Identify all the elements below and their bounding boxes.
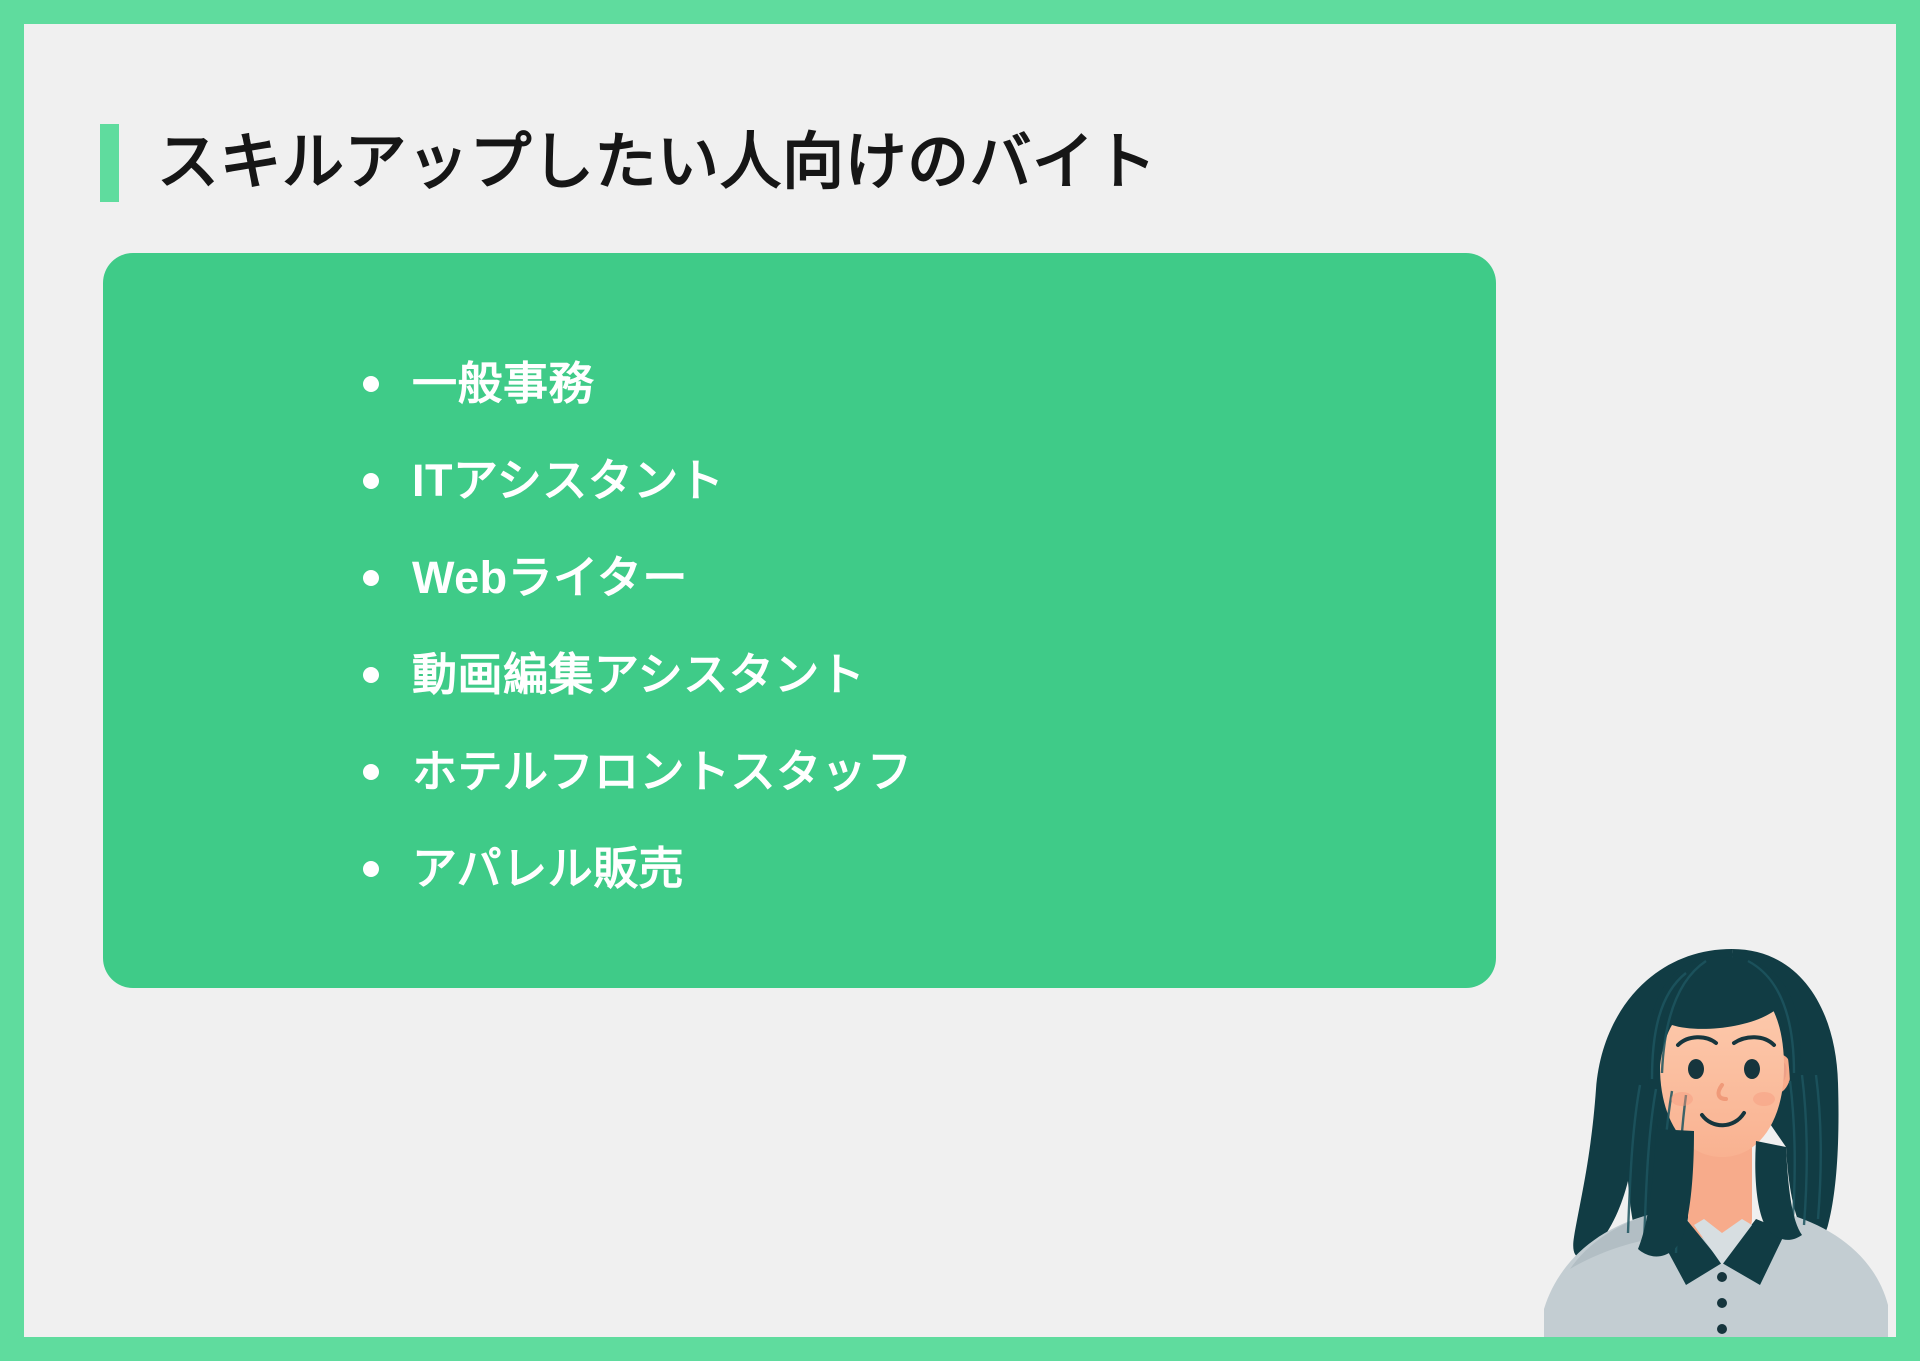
hair-strands (1628, 961, 1821, 1253)
page-header: スキルアップしたい人向けのバイト (100, 90, 1157, 235)
shirt-button (1717, 1324, 1727, 1334)
shirt-body (1544, 1213, 1888, 1337)
list-item: 一般事務 (363, 335, 913, 432)
frame-border-bottom (0, 1337, 1920, 1361)
job-list-card: 一般事務 ITアシスタント Webライター 動画編集アシスタント ホテルフロント… (103, 253, 1496, 988)
eye-left (1688, 1059, 1704, 1079)
frame-border-top (0, 0, 1920, 24)
list-item-label: アパレル販売 (412, 844, 684, 894)
hair-fringe (1648, 957, 1801, 1129)
list-item: ホテルフロントスタッフ (363, 723, 913, 820)
list-item-label: Webライター (412, 553, 688, 603)
woman-portrait-illustration (1536, 933, 1896, 1337)
list-item-label: ITアシスタント (412, 456, 724, 506)
list-item-label: 一般事務 (412, 359, 594, 409)
eyebrow-left (1678, 1037, 1716, 1045)
bullet-dot-icon (363, 764, 379, 780)
job-list: 一般事務 ITアシスタント Webライター 動画編集アシスタント ホテルフロント… (363, 335, 913, 917)
slide-root: スキルアップしたい人向けのバイト 一般事務 ITアシスタント Webライター 動… (0, 0, 1920, 1361)
hair-front-right (1755, 1141, 1802, 1240)
bullet-dot-icon (363, 861, 379, 877)
eyebrow-right (1734, 1037, 1774, 1045)
ear-right (1770, 1054, 1791, 1093)
ear-detail (1782, 1063, 1785, 1081)
list-item: アパレル販売 (363, 820, 913, 917)
neck (1688, 1147, 1752, 1243)
cheek-left (1671, 1092, 1693, 1106)
frame-border-right (1896, 0, 1920, 1361)
list-item: ITアシスタント (363, 432, 913, 529)
bullet-dot-icon (363, 667, 379, 683)
list-item: Webライター (363, 529, 913, 626)
collar-right (1722, 1219, 1786, 1285)
face (1660, 979, 1784, 1157)
nose (1719, 1085, 1726, 1099)
shirt-shoulder-shadow (1570, 1215, 1676, 1269)
title-accent-bar (100, 124, 119, 202)
bullet-dot-icon (363, 570, 379, 586)
list-item-label: 動画編集アシスタント (412, 650, 865, 700)
list-item-label: ホテルフロントスタッフ (412, 747, 913, 797)
cheek-right (1753, 1092, 1775, 1106)
list-item: 動画編集アシスタント (363, 626, 913, 723)
bullet-dot-icon (363, 473, 379, 489)
page-title: スキルアップしたい人向けのバイト (157, 132, 1157, 194)
collar-left (1658, 1219, 1722, 1285)
frame-border-left (0, 0, 24, 1361)
mouth (1702, 1113, 1744, 1125)
hair-right-mass (1732, 949, 1839, 1240)
bullet-dot-icon (363, 376, 379, 392)
shirt-button (1717, 1298, 1727, 1308)
hair-left-mass (1573, 949, 1746, 1266)
hair-front-left (1638, 1129, 1694, 1256)
collar-placket (1694, 1219, 1752, 1265)
eye-right (1744, 1059, 1760, 1079)
shirt-button (1717, 1272, 1727, 1282)
